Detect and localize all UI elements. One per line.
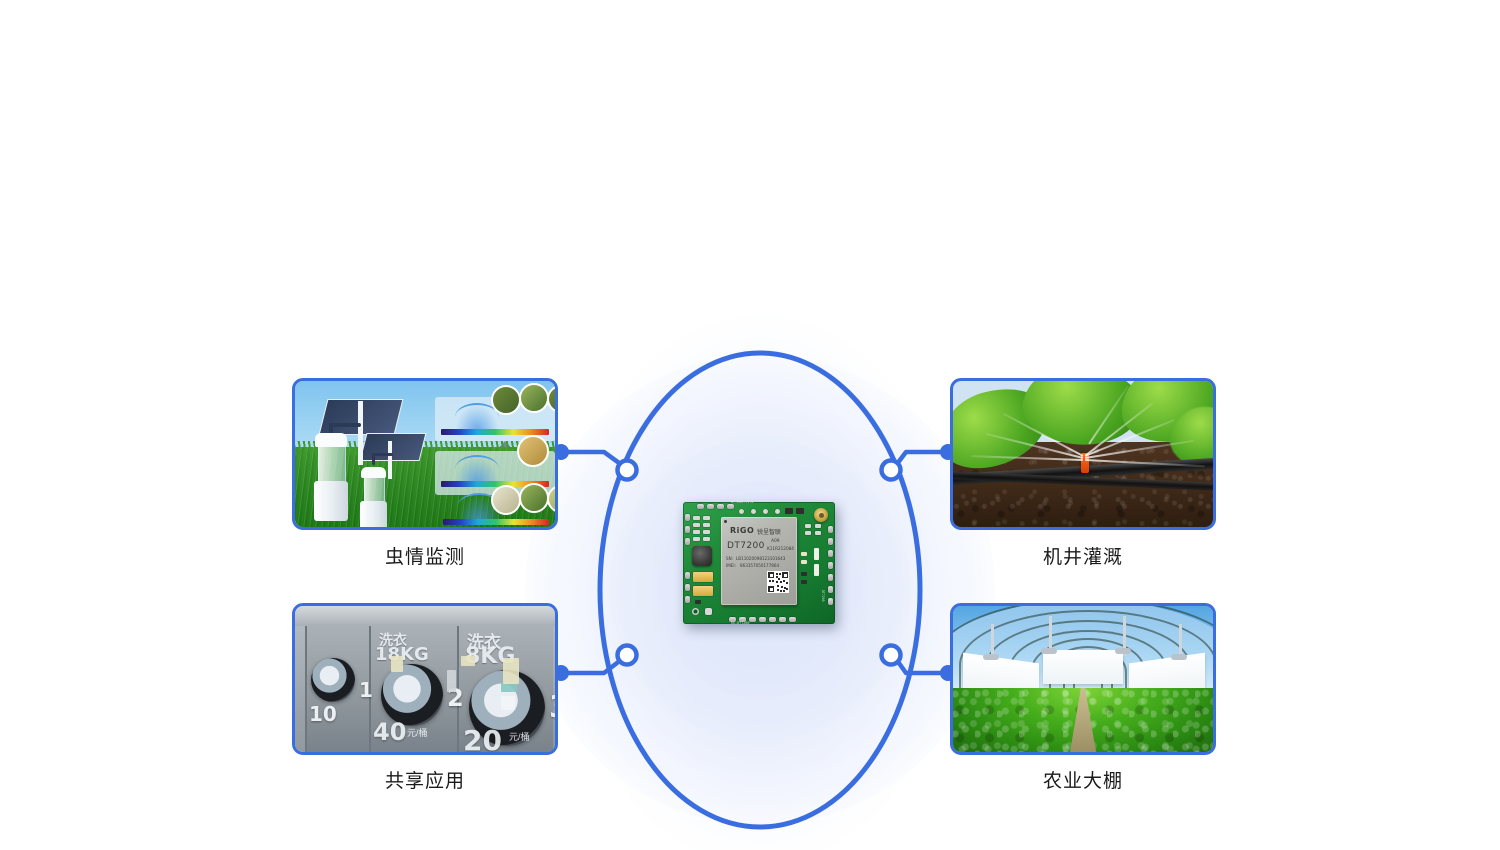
pad-bottom-4 [759, 617, 766, 622]
pad-right-6 [828, 586, 833, 593]
testpoint-t4 [775, 509, 780, 514]
pad-right-5 [828, 574, 833, 581]
pad-bottom-6 [779, 617, 786, 622]
smd-r5 [814, 548, 819, 560]
pad-bottom-7 [789, 617, 796, 622]
card-well-irrigation[interactable] [950, 378, 1216, 530]
washer-drum-2 [381, 664, 443, 726]
mast-pole [358, 401, 363, 465]
ufl-antenna-connector [814, 508, 828, 522]
pad-bottom-5 [769, 617, 776, 622]
silk-bottom-label: RG-DT7200 [731, 621, 749, 625]
smd-r2 [815, 524, 821, 528]
grow-lamp-2 [1041, 648, 1057, 654]
smd-component-t1 [785, 508, 793, 514]
smd-component-t2 [796, 508, 804, 514]
scene-canvas: 虫情监测 洗衣 18KG 洗衣 8KG 1 2 3 10 40 20 元/桶 元… [0, 0, 1500, 850]
shade-panel-2 [1043, 650, 1123, 684]
solar-panel-small-icon [360, 433, 427, 461]
insect-trap-head-2 [361, 467, 386, 478]
grow-lamp-1 [983, 654, 999, 660]
silk-right-label: DT7200 [821, 590, 825, 602]
smd-l6 [703, 530, 710, 534]
smd-r3 [805, 531, 811, 535]
grow-lamp-4 [1171, 654, 1187, 660]
smd-r10 [801, 580, 807, 584]
testpoint-t1 [739, 509, 744, 514]
card-label-well-irrigation: 机井灌溉 [950, 542, 1216, 569]
washer-sticker-2 [447, 670, 456, 692]
washer-number-0: 10 [309, 702, 337, 726]
smd-r8 [801, 560, 807, 564]
smd-l4 [703, 523, 710, 527]
gold-pad-1 [693, 572, 713, 582]
washer-drum-1 [311, 658, 355, 702]
smd-l9 [695, 600, 701, 604]
imei-label-text: IMEI: [726, 563, 736, 568]
pad-bl-corner [705, 608, 712, 615]
smd-l8 [703, 537, 710, 541]
pad-left-4 [685, 572, 690, 579]
batch-code-text: K11R212084 [767, 546, 794, 551]
insect-trap-glass-2 [364, 478, 385, 501]
power-inductor [692, 546, 712, 566]
ring-node-bottom-right[interactable] [882, 646, 901, 665]
washer-price-2: 20 [463, 724, 502, 755]
smd-l3 [693, 523, 700, 527]
washer-sticker-3 [461, 656, 475, 666]
pad-top-1 [697, 504, 704, 509]
washer-number-3: 3 [549, 690, 558, 725]
scene-well-irrigation [953, 381, 1213, 527]
smd-r1 [805, 524, 811, 528]
smd-l1 [693, 516, 700, 520]
mast-pole-small [388, 441, 392, 479]
payment-kiosk [553, 626, 555, 752]
iot-module-board[interactable]: DT7200-V1.0 RG-DT7200 [683, 502, 835, 624]
washer-sticker-1 [391, 656, 403, 672]
insect-trap-glass [318, 447, 346, 481]
insect-trap-body [314, 481, 348, 521]
pad-left-2 [685, 526, 690, 533]
scene-pest-monitoring [295, 381, 555, 527]
washer-price-1: 40 [373, 718, 406, 746]
smd-r7 [801, 552, 807, 556]
ring-node-top-right[interactable] [882, 461, 901, 480]
imei-value-text: 863357050177864 [740, 563, 779, 568]
card-shared-application[interactable]: 洗衣 18KG 洗衣 8KG 1 2 3 10 40 20 元/桶 元/桶 [292, 603, 558, 755]
pad-left-6 [685, 596, 690, 603]
smd-l2 [703, 516, 710, 520]
washer-price-unit-2: 元/桶 [509, 730, 530, 743]
model-text: DT7200 [727, 541, 765, 551]
ring-node-bottom-left[interactable] [618, 646, 637, 665]
testpoint-t2 [751, 509, 756, 514]
pad-right-4 [828, 562, 833, 569]
pad-top-4 [727, 504, 734, 509]
smd-l7 [693, 537, 700, 541]
brand-cn-text: 锐呈智联 [757, 527, 781, 536]
pad-bottom-3 [749, 617, 756, 622]
insect-thumb-1 [491, 385, 521, 415]
washer-number-1: 1 [359, 678, 373, 702]
card-label-shared-application: 共享应用 [292, 766, 558, 793]
pad-top-3 [717, 504, 724, 509]
card-pest-monitoring[interactable] [292, 378, 558, 530]
ceiling-strip [295, 606, 555, 626]
sn-value-text: LB11020098123101643 [736, 556, 785, 561]
mount-arm-small [373, 453, 393, 456]
mount-arm-small-joint [372, 453, 375, 465]
smd-r6 [814, 564, 819, 576]
silk-top-label: DT7200-V1.0 [731, 500, 753, 504]
pad-right-1 [828, 526, 833, 533]
revision-text: A09 [771, 539, 780, 544]
insect-thumb-2 [519, 383, 549, 413]
insect-trap-body-2 [360, 501, 387, 530]
brand-logo-text: RiGO [730, 526, 754, 535]
testpoint-t3 [763, 509, 768, 514]
insect-thumb-4 [517, 435, 549, 467]
pad-right-7 [828, 598, 833, 605]
smd-r4 [815, 531, 821, 535]
washer-price-unit-1: 元/桶 [407, 726, 428, 739]
smd-l5 [693, 530, 700, 534]
pad-top-2 [707, 504, 714, 509]
mount-arm [331, 423, 361, 427]
pad-left-3 [685, 538, 690, 545]
connection-diagram [0, 0, 1500, 850]
spectrum-bar-3 [443, 519, 549, 525]
insect-thumb-5 [491, 485, 521, 515]
insect-thumb-6 [519, 483, 549, 513]
ring-node-top-left[interactable] [618, 461, 637, 480]
insect-trap-head [315, 433, 347, 447]
sn-label-text: SN: [726, 556, 733, 561]
pad-left-1 [685, 514, 690, 521]
spectrum-curve-2 [455, 455, 499, 483]
smd-r9 [801, 572, 807, 576]
mount-hole-left [692, 608, 699, 615]
qr-code [767, 571, 789, 593]
scene-greenhouse [953, 606, 1213, 752]
pad-right-3 [828, 550, 833, 557]
rf-shield-can: RiGO 锐呈智联 DT7200 A09 K11R212084 SN: LB11… [721, 517, 797, 605]
gold-pad-2 [693, 586, 713, 596]
pad-right-2 [828, 538, 833, 545]
card-agricultural-greenhouse[interactable] [950, 603, 1216, 755]
card-label-pest-monitoring: 虫情监测 [292, 542, 558, 569]
pad-left-5 [685, 584, 690, 591]
card-label-agricultural-greenhouse: 农业大棚 [950, 766, 1216, 793]
grow-lamp-3 [1115, 648, 1131, 654]
washer-sticker-6 [503, 658, 519, 684]
scene-shared-laundry: 洗衣 18KG 洗衣 8KG 1 2 3 10 40 20 元/桶 元/桶 [295, 606, 555, 752]
washer-sticker-5 [501, 696, 515, 710]
